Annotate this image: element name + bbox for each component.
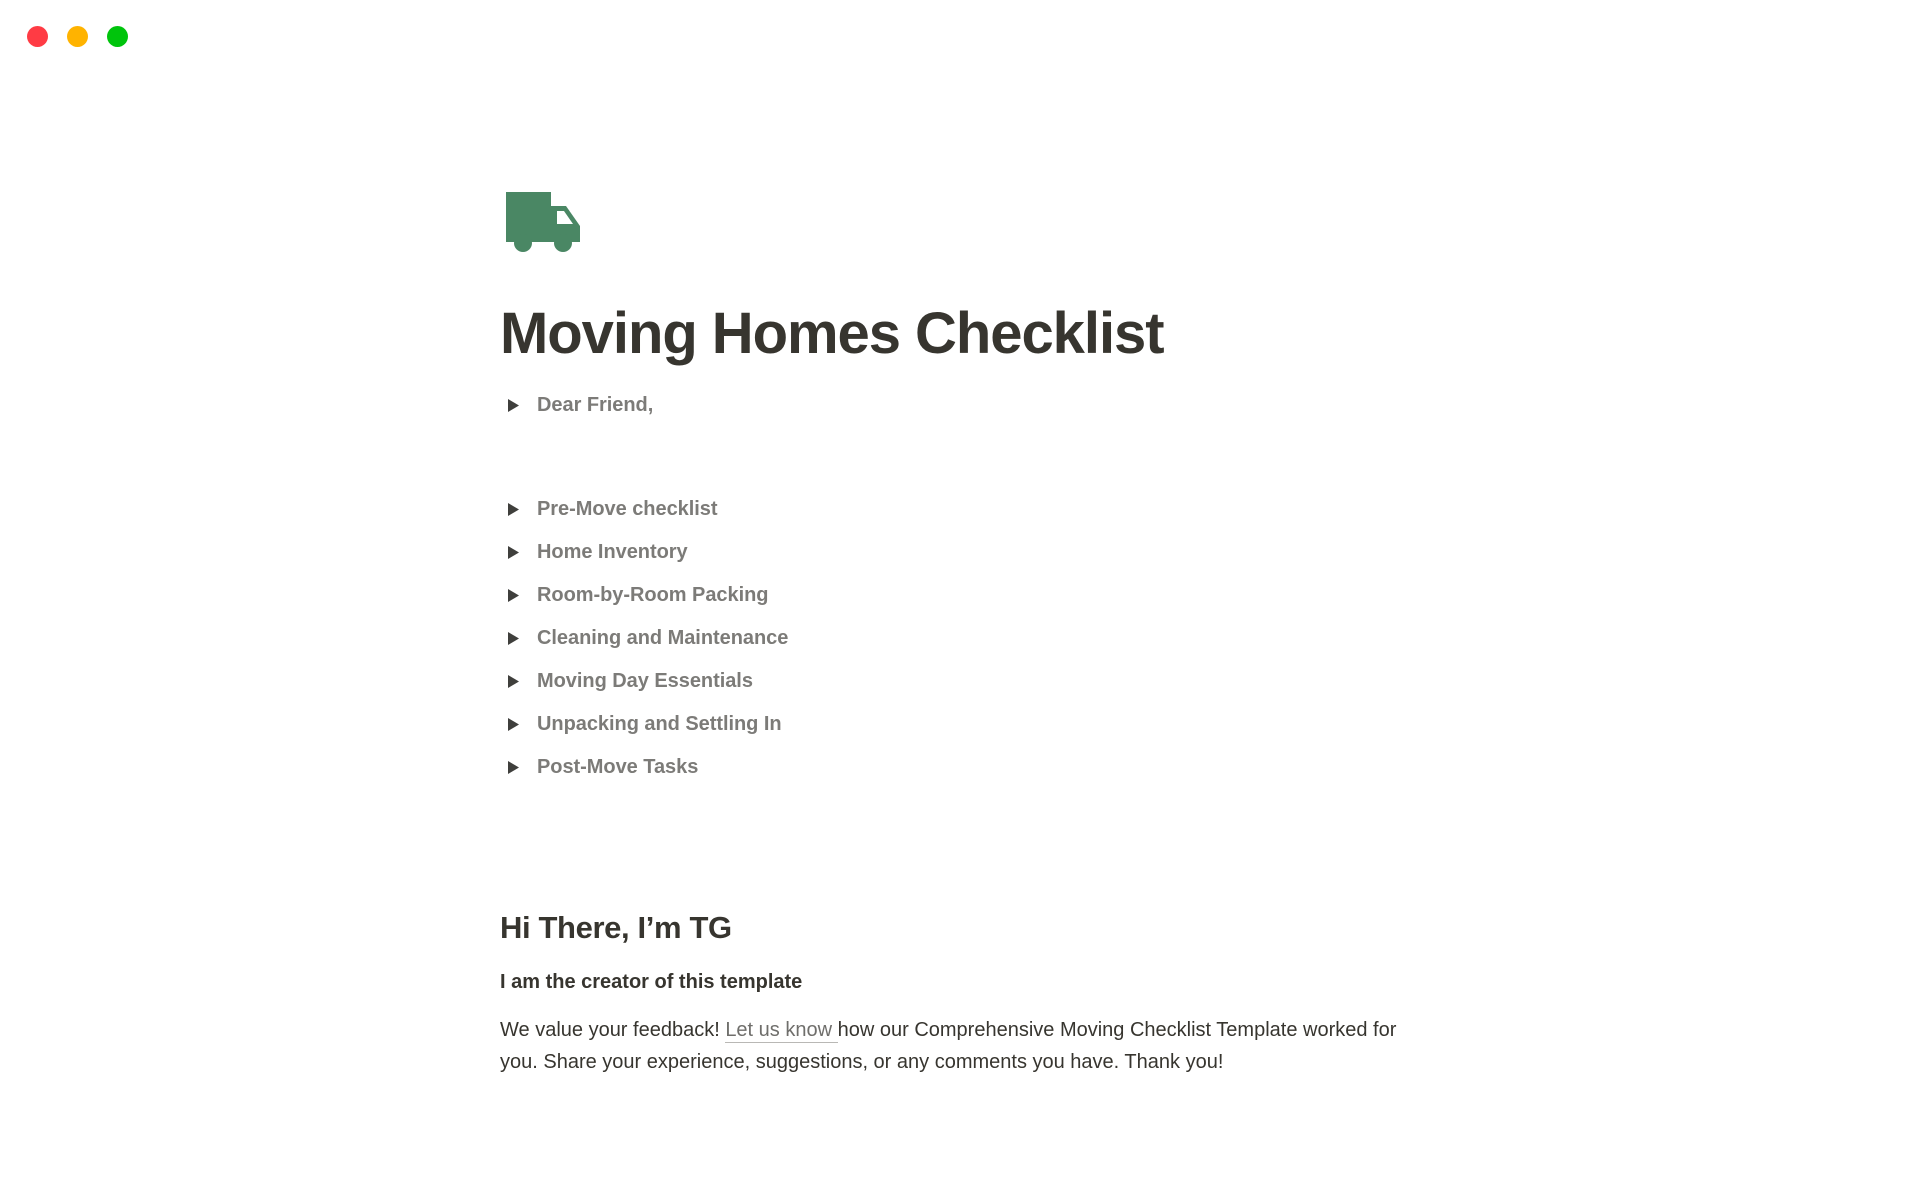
toggle-item-room-by-room-packing[interactable]: Room-by-Room Packing xyxy=(502,574,1640,617)
toggle-label[interactable]: Unpacking and Settling In xyxy=(537,711,782,737)
author-subheading[interactable]: I am the creator of this template xyxy=(500,967,1640,997)
toggle-label[interactable]: Cleaning and Maintenance xyxy=(537,625,788,651)
let-us-know-link[interactable]: Let us know xyxy=(725,1019,837,1043)
toggle-item-dear-friend[interactable]: Dear Friend, xyxy=(502,384,1640,427)
window-controls xyxy=(27,26,128,47)
close-window-button[interactable] xyxy=(27,26,48,47)
chevron-right-icon[interactable] xyxy=(502,713,524,735)
chevron-right-icon[interactable] xyxy=(502,584,524,606)
toggle-label[interactable]: Home Inventory xyxy=(537,539,688,565)
toggle-item-cleaning-and-maintenance[interactable]: Cleaning and Maintenance xyxy=(502,617,1640,660)
chevron-right-icon[interactable] xyxy=(502,394,524,416)
toggle-item-home-inventory[interactable]: Home Inventory xyxy=(502,531,1640,574)
empty-block-spacer xyxy=(500,789,1640,909)
author-heading[interactable]: Hi There, I’m TG xyxy=(500,909,1640,948)
toggle-label[interactable]: Dear Friend, xyxy=(537,392,653,418)
toggle-item-post-move-tasks[interactable]: Post-Move Tasks xyxy=(502,746,1640,789)
feedback-text-before-link: We value your feedback! xyxy=(500,1019,725,1041)
chevron-right-icon[interactable] xyxy=(502,756,524,778)
section-toggle-group: Pre-Move checklist Home Inventory Room-b… xyxy=(500,488,1640,789)
page-title[interactable]: Moving Homes Checklist xyxy=(500,302,1640,366)
minimize-window-button[interactable] xyxy=(67,26,88,47)
feedback-paragraph[interactable]: We value your feedback! Let us know how … xyxy=(500,1014,1430,1079)
toggle-label[interactable]: Pre-Move checklist xyxy=(537,496,717,522)
maximize-window-button[interactable] xyxy=(107,26,128,47)
toggle-item-unpacking-and-settling-in[interactable]: Unpacking and Settling In xyxy=(502,703,1640,746)
toggle-item-pre-move-checklist[interactable]: Pre-Move checklist xyxy=(502,488,1640,531)
chevron-right-icon[interactable] xyxy=(502,627,524,649)
document-page: Moving Homes Checklist Dear Friend, xyxy=(0,0,1920,1200)
moving-truck-icon[interactable] xyxy=(500,180,588,268)
toggle-label[interactable]: Room-by-Room Packing xyxy=(537,582,768,608)
window-titlebar xyxy=(0,0,1920,72)
toggle-label[interactable]: Moving Day Essentials xyxy=(537,668,753,694)
chevron-right-icon[interactable] xyxy=(502,541,524,563)
empty-block-spacer xyxy=(500,427,1640,488)
page-content: Moving Homes Checklist Dear Friend, xyxy=(500,180,1640,1078)
intro-toggle-group: Dear Friend, xyxy=(500,384,1640,427)
chevron-right-icon[interactable] xyxy=(502,670,524,692)
toggle-item-moving-day-essentials[interactable]: Moving Day Essentials xyxy=(502,660,1640,703)
chevron-right-icon[interactable] xyxy=(502,498,524,520)
toggle-label[interactable]: Post-Move Tasks xyxy=(537,754,698,780)
